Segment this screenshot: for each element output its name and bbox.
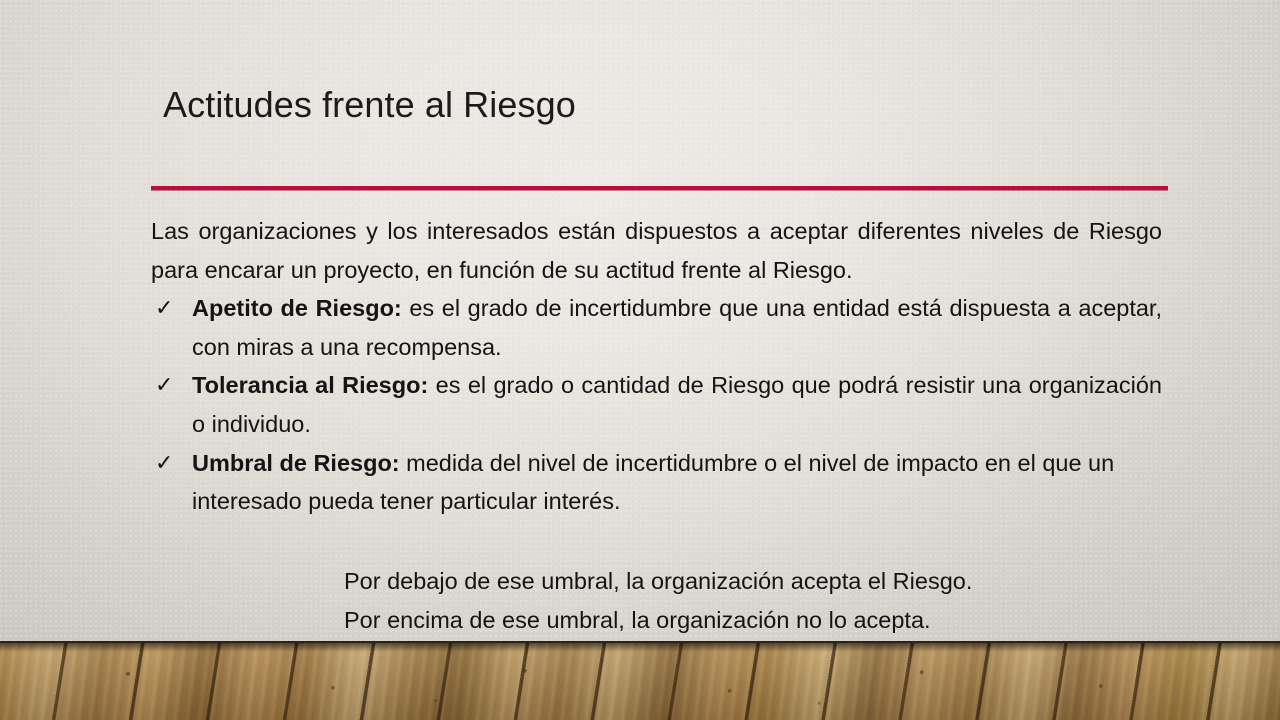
closing-line-below-threshold: Por debajo de ese umbral, la organizació…	[344, 562, 1104, 601]
list-item-lead: Tolerancia al Riesgo:	[192, 372, 428, 398]
list-item-lead: Umbral de Riesgo:	[192, 450, 400, 476]
closing-line-above-threshold: Por encima de ese umbral, la organizació…	[344, 601, 1104, 640]
slide-canvas: Actitudes frente al Riesgo Las organizac…	[0, 0, 1280, 720]
list-item: ✓ Umbral de Riesgo: medida del nivel de …	[151, 444, 1162, 521]
list-item-lead: Apetito de Riesgo:	[192, 295, 402, 321]
bullet-list: ✓ Apetito de Riesgo: es el grado de ince…	[151, 289, 1162, 521]
slide-body: Las organizaciones y los interesados est…	[151, 212, 1162, 521]
closing-lines: Por debajo de ese umbral, la organizació…	[344, 562, 1104, 639]
list-item: ✓ Tolerancia al Riesgo: es el grado o ca…	[151, 366, 1162, 443]
title-divider-rule	[151, 186, 1168, 190]
intro-paragraph: Las organizaciones y los interesados est…	[151, 212, 1162, 289]
wooden-floor-footer-image	[0, 641, 1280, 720]
page-title: Actitudes frente al Riesgo	[163, 84, 576, 126]
floor-top-shadow	[0, 643, 1280, 652]
floor-knot-marks	[0, 643, 1280, 720]
checkmark-icon: ✓	[155, 444, 179, 483]
checkmark-icon: ✓	[155, 366, 179, 405]
checkmark-icon: ✓	[155, 289, 179, 328]
slide-content: Actitudes frente al Riesgo Las organizac…	[0, 0, 1280, 720]
list-item: ✓ Apetito de Riesgo: es el grado de ince…	[151, 289, 1162, 366]
